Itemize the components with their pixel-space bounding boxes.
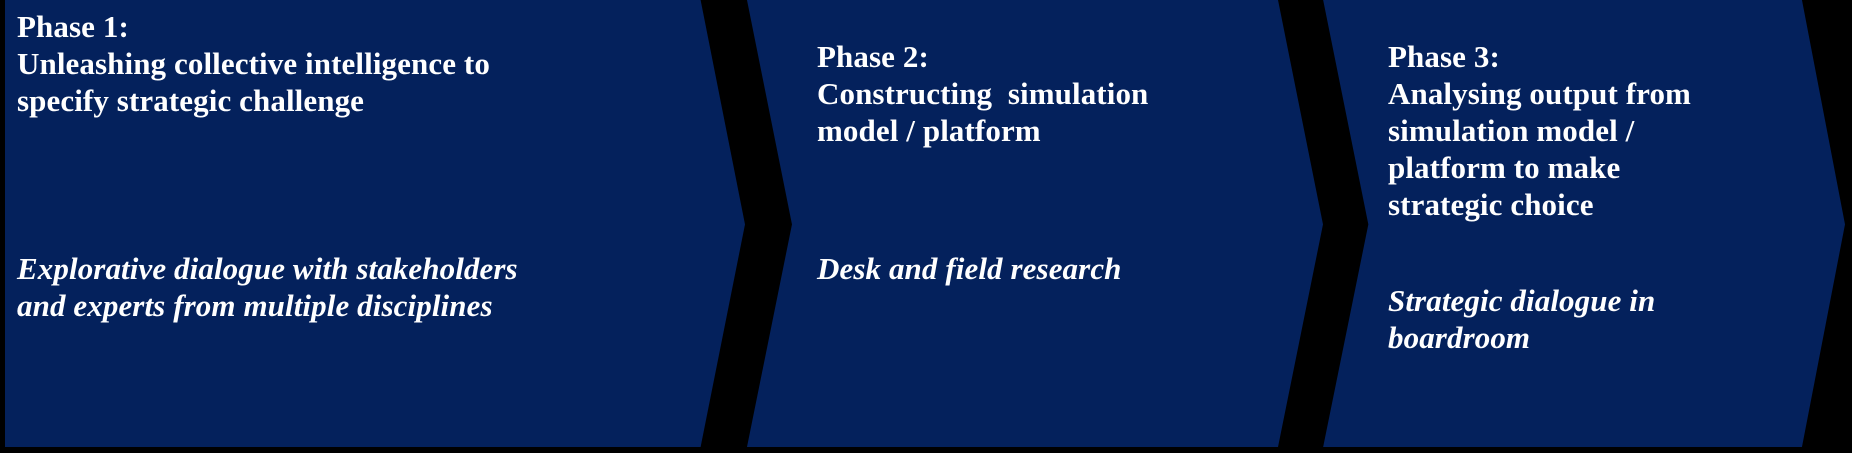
- phase-1-method: Explorative dialogue with stakeholders a…: [17, 250, 677, 324]
- phase-3-method: Strategic dialogue in boardroom: [1388, 282, 1788, 356]
- phase-3-text-column: Phase 3: Analysing output from simulatio…: [1330, 0, 1850, 453]
- phase-3-heading: Phase 3: Analysing output from simulatio…: [1388, 38, 1788, 223]
- phase-2-text-column: Phase 2: Constructing simulation model /…: [760, 0, 1320, 453]
- phase-1-text-column: Phase 1: Unleashing collective intellige…: [0, 0, 700, 453]
- phase-2-heading: Phase 2: Constructing simulation model /…: [817, 38, 1237, 149]
- phase-1-heading: Phase 1: Unleashing collective intellige…: [17, 8, 657, 119]
- phase-2-method: Desk and field research: [817, 250, 1277, 287]
- phases-diagram: Phase 1: Unleashing collective intellige…: [0, 0, 1852, 453]
